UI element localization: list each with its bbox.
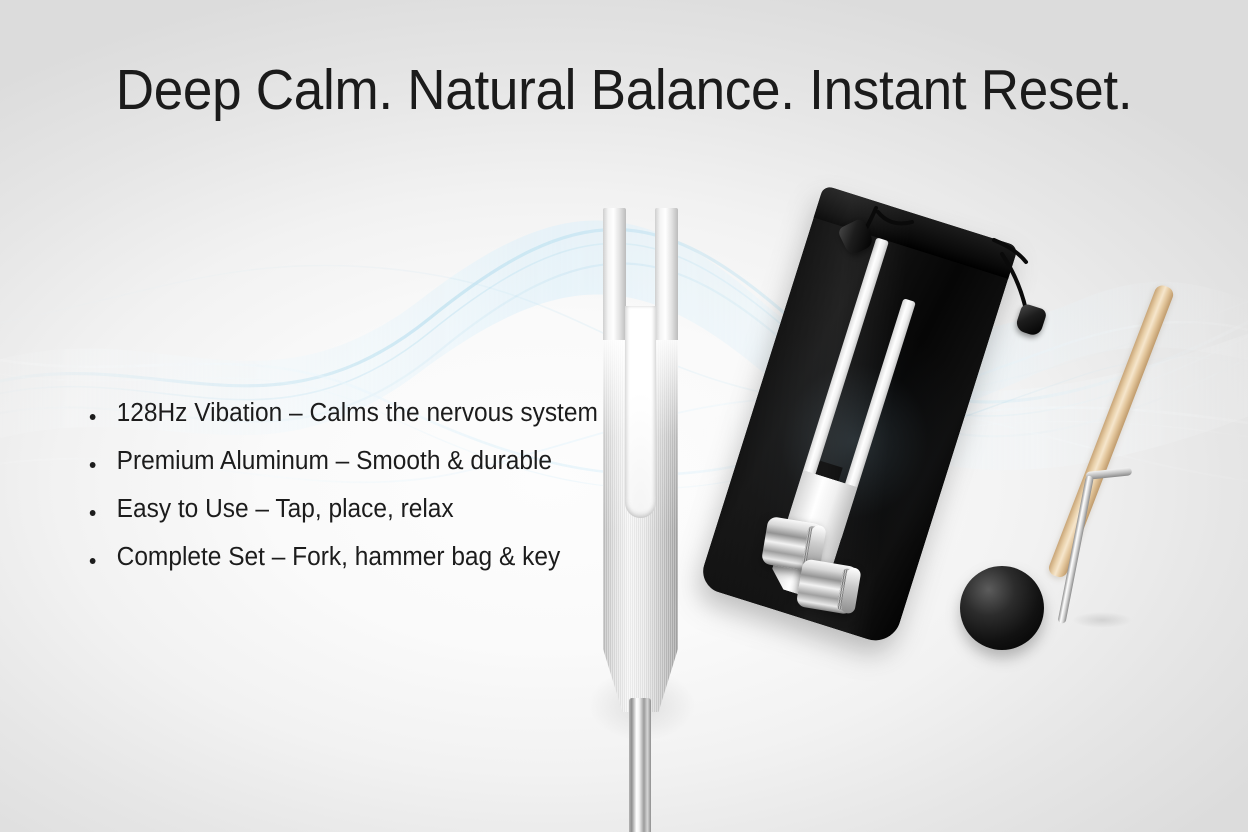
feature-text: 128Hz Vibation – Calms the nervous syste… xyxy=(117,399,598,427)
bullet-icon xyxy=(90,510,96,516)
bullet-icon xyxy=(90,462,96,468)
tuning-fork-image xyxy=(588,200,698,710)
bullet-icon xyxy=(90,414,96,420)
list-item: Complete Set – Fork, hammer bag & key xyxy=(84,542,602,572)
hex-key-shadow xyxy=(1072,612,1132,628)
fork-body xyxy=(603,340,678,720)
hex-key-long-arm xyxy=(1057,475,1093,624)
feature-text: Premium Aluminum – Smooth & durable xyxy=(117,447,552,475)
list-item: Easy to Use – Tap, place, relax xyxy=(84,494,602,524)
fork-u-slot xyxy=(625,306,656,518)
list-item: Premium Aluminum – Smooth & durable xyxy=(84,446,602,476)
feature-text: Complete Set – Fork, hammer bag & key xyxy=(117,543,561,571)
product-banner: Deep Calm. Natural Balance. Instant Rese… xyxy=(0,0,1248,832)
feature-text: Easy to Use – Tap, place, relax xyxy=(117,495,454,523)
fork-stem xyxy=(629,698,651,832)
list-item: 128Hz Vibation – Calms the nervous syste… xyxy=(84,398,602,428)
page-title: Deep Calm. Natural Balance. Instant Rese… xyxy=(44,56,1205,124)
feature-list: 128Hz Vibation – Calms the nervous syste… xyxy=(84,398,624,590)
hex-key-image xyxy=(1032,462,1152,642)
bullet-icon xyxy=(90,558,96,564)
